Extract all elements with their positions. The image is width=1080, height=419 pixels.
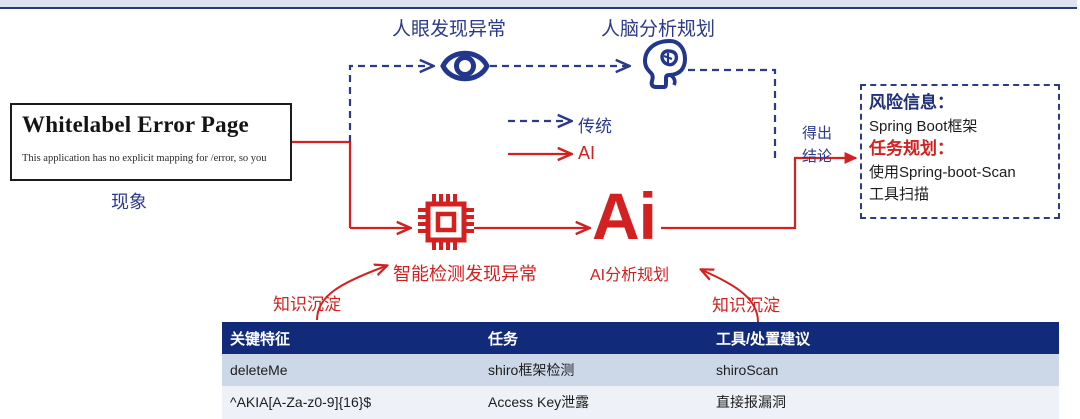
whitelabel-error-box: Whitelabel Error Page This application h… — [10, 103, 292, 181]
legend-traditional-label: 传统 — [578, 112, 612, 137]
top-banner-rule — [0, 7, 1080, 9]
cell-task: shiro框架检测 — [480, 354, 708, 386]
table-row: deleteMe shiro框架检测 shiroScan — [222, 354, 1059, 386]
knowledge-table: 关键特征 任务 工具/处置建议 deleteMe shiro框架检测 shiro… — [222, 322, 1059, 419]
conclusion-label-line1: 得出 — [802, 122, 832, 143]
ai-wordmark: Ai — [592, 183, 656, 249]
cell-task: Access Key泄露 — [480, 386, 708, 418]
wire-error-to-branch — [292, 142, 350, 228]
table-header-key-feature: 关键特征 — [222, 322, 480, 354]
table-header-task: 任务 — [480, 322, 708, 354]
ai-plan-label: AI分析规划 — [590, 261, 669, 285]
wire-brain-to-conclusion — [688, 70, 775, 158]
task-plan-value-line1: 使用Spring-boot-Scan — [869, 162, 1051, 184]
phenomenon-label: 现象 — [111, 188, 147, 214]
table-header-row: 关键特征 任务 工具/处置建议 — [222, 322, 1059, 354]
risk-info-box: 风险信息： Spring Boot框架 任务规划： 使用Spring-boot-… — [860, 84, 1060, 219]
cell-key-feature: ^AKIA[A-Za-z0-9]{16}$ — [222, 386, 480, 418]
diagram-canvas: Whitelabel Error Page This application h… — [0, 0, 1080, 419]
task-plan-value-line2: 工具扫描 — [869, 184, 1051, 206]
brain-head-icon — [640, 37, 688, 96]
conclusion-label-line2: 结论 — [802, 145, 832, 166]
cpu-chip-icon — [415, 190, 477, 259]
cell-tool: 直接报漏洞 — [708, 386, 1059, 418]
brain-step-label: 人脑分析规划 — [601, 14, 715, 41]
cell-key-feature: deleteMe — [222, 354, 480, 386]
error-page-title: Whitelabel Error Page — [22, 113, 280, 137]
wire-ai-to-conclusion — [661, 158, 856, 228]
cell-tool: shiroScan — [708, 354, 1059, 386]
risk-info-value: Spring Boot框架 — [869, 116, 1051, 138]
wire-trunk-to-eye — [350, 66, 432, 142]
knowledge-right-label: 知识沉淀 — [712, 291, 780, 316]
legend-ai-label: AI — [578, 143, 595, 164]
risk-info-heading: 风险信息： — [869, 91, 1051, 116]
table-row: ^AKIA[A-Za-z0-9]{16}$ Access Key泄露 直接报漏洞 — [222, 386, 1059, 418]
eye-icon — [440, 42, 490, 95]
eye-step-label: 人眼发现异常 — [392, 14, 506, 41]
error-page-subtitle: This application has no explicit mapping… — [22, 153, 280, 164]
table-header-tool: 工具/处置建议 — [708, 322, 1059, 354]
knowledge-left-label: 知识沉淀 — [273, 290, 341, 315]
task-plan-heading: 任务规划： — [869, 137, 1051, 162]
smart-detect-label: 智能检测发现异常 — [393, 260, 537, 286]
